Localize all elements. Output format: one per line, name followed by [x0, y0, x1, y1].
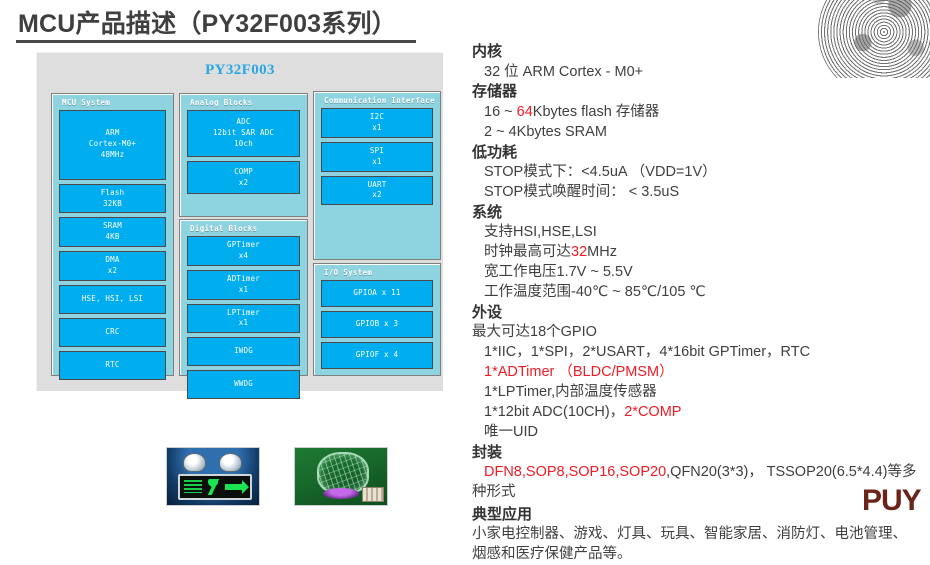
diagram-block: Flash32KB	[59, 184, 166, 214]
freq-prefix: 时钟最高可达	[484, 244, 571, 260]
diagram-block: I2Cx1	[321, 108, 433, 138]
spec-periph-line-adc: 1*12bit ADC(10CH)，2*COMP	[472, 403, 924, 423]
diagram-group-mcu-system: MCU System ARMCortex-M0+48MHz Flash32KB …	[51, 93, 174, 376]
specification-list: 内核 32 位 ARM Cortex - M0+ 存储器 16 ~ 64Kbyt…	[472, 42, 924, 565]
spec-system-line-clocks: 支持HSI,HSE,LSI	[472, 223, 924, 243]
diagram-block: ADC12bit SAR ADC10ch	[187, 110, 300, 157]
diagram-block: IWDG	[187, 337, 300, 366]
diagram-block: ARMCortex-M0+48MHz	[59, 110, 166, 180]
spec-heading-low-power: 低功耗	[472, 143, 924, 164]
package-rest: ,QFN20(3*3)， TSSOP20(6.5*4.4)等多	[666, 464, 916, 480]
spec-memory-line-flash: 16 ~ 64Kbytes flash 存储器	[472, 103, 924, 123]
spec-system-line-voltage: 宽工作电压1.7V ~ 5.5V	[472, 263, 924, 283]
diagram-block: ADTimerx1	[187, 270, 300, 300]
spec-apps-line2: 烟感和医疗保健产品等。	[472, 545, 924, 565]
spec-heading-system: 系统	[472, 203, 924, 224]
spec-heading-applications: 典型应用	[472, 505, 924, 526]
spec-heading-core: 内核	[472, 42, 924, 63]
memory-unit: Kbytes flash 存储器	[533, 104, 660, 120]
spec-package-line2: 种形式	[472, 483, 924, 503]
spec-periph-line-lptimer: 1*LPTimer,内部温度传感器	[472, 383, 924, 403]
diagram-block: CRC	[59, 318, 166, 347]
diagram-block: SPIx1	[321, 142, 433, 172]
freq-unit: MHz	[587, 244, 617, 260]
spec-apps-line1: 小家电控制器、游戏、灯具、玩具、智能家居、消防灯、电池管理、	[472, 525, 924, 545]
diagram-block: SRAM4KB	[59, 217, 166, 247]
spec-system-line-temperature: 工作温度范围-40℃ ~ 85℃/105 ℃	[472, 283, 924, 303]
spec-package-line1: DFN8,SOP8,SOP16,SOP20,QFN20(3*3)， TSSOP2…	[472, 463, 924, 483]
diagram-block: HSE, HSI, LSI	[59, 285, 166, 314]
diagram-block: LPTimerx1	[187, 304, 300, 334]
memory-range-high: 64	[517, 104, 533, 120]
spec-system-line-freq: 时钟最高可达32MHz	[472, 243, 924, 263]
photo-3d-led-lamp	[294, 447, 388, 506]
adc-text: 1*12bit ADC(10CH)，	[484, 404, 624, 420]
diagram-block: WWDG	[187, 370, 300, 399]
diagram-block: GPTimerx4	[187, 236, 300, 266]
diagram-block: UARTx2	[321, 176, 433, 206]
diagram-group-io-system: I/O System GPIOA x 11 GPIOB x 3 GPIOF x …	[313, 263, 441, 376]
spec-heading-peripherals: 外设	[472, 303, 924, 324]
diagram-group-digital-blocks: Digital Blocks GPTimerx4 ADTimerx1 LPTim…	[179, 219, 308, 376]
spec-power-line-stop: STOP模式下：<4.5uA （VDD=1V）	[472, 163, 924, 183]
diagram-block: RTC	[59, 351, 166, 380]
brand-logo: PUY	[862, 486, 921, 516]
diagram-block: GPIOA x 11	[321, 280, 433, 307]
memory-range-low: 16 ~	[484, 104, 517, 120]
group-label: Communication Interface	[314, 92, 440, 108]
spec-core-line: 32 位 ARM Cortex - M0+	[472, 63, 924, 83]
diagram-block: GPIOB x 3	[321, 311, 433, 338]
diagram-group-communication-interface: Communication Interface I2Cx1 SPIx1 UART…	[313, 91, 441, 260]
title-underline	[16, 40, 416, 43]
spec-periph-line-uid: 唯一UID	[472, 423, 924, 443]
block-diagram: PY32F003 MCU System ARMCortex-M0+48MHz F…	[36, 52, 443, 391]
chip-name-label: PY32F003	[37, 62, 443, 79]
package-highlight: DFN8,SOP8,SOP16,SOP20	[484, 464, 666, 480]
group-label: Analog Blocks	[180, 94, 307, 110]
spec-periph-line-interfaces: 1*IIC，1*SPI，2*USART，4*16bit GPTimer，RTC	[472, 343, 924, 363]
photo-emergency-exit-light	[166, 447, 260, 506]
group-label: Digital Blocks	[180, 220, 307, 236]
group-label: I/O System	[314, 264, 440, 280]
diagram-block: DMAx2	[59, 251, 166, 281]
spec-periph-line-adtimer: 1*ADTimer （BLDC/PMSM）	[472, 363, 924, 383]
spec-memory-line-sram: 2 ~ 4Kbytes SRAM	[472, 123, 924, 143]
spec-power-line-wakeup: STOP模式唤醒时间： < 3.5uS	[472, 183, 924, 203]
comp-text: 2*COMP	[624, 404, 681, 420]
group-label: MCU System	[52, 94, 173, 110]
freq-value: 32	[571, 244, 587, 260]
diagram-group-analog-blocks: Analog Blocks ADC12bit SAR ADC10ch COMPx…	[179, 93, 308, 217]
page-title: MCU产品描述（PY32F003系列）	[18, 4, 397, 40]
spec-heading-memory: 存储器	[472, 82, 924, 103]
diagram-block: GPIOF x 4	[321, 342, 433, 369]
spec-heading-package: 封装	[472, 443, 924, 464]
diagram-block: COMPx2	[187, 161, 300, 195]
spec-periph-line-gpio: 最大可达18个GPIO	[472, 323, 924, 343]
